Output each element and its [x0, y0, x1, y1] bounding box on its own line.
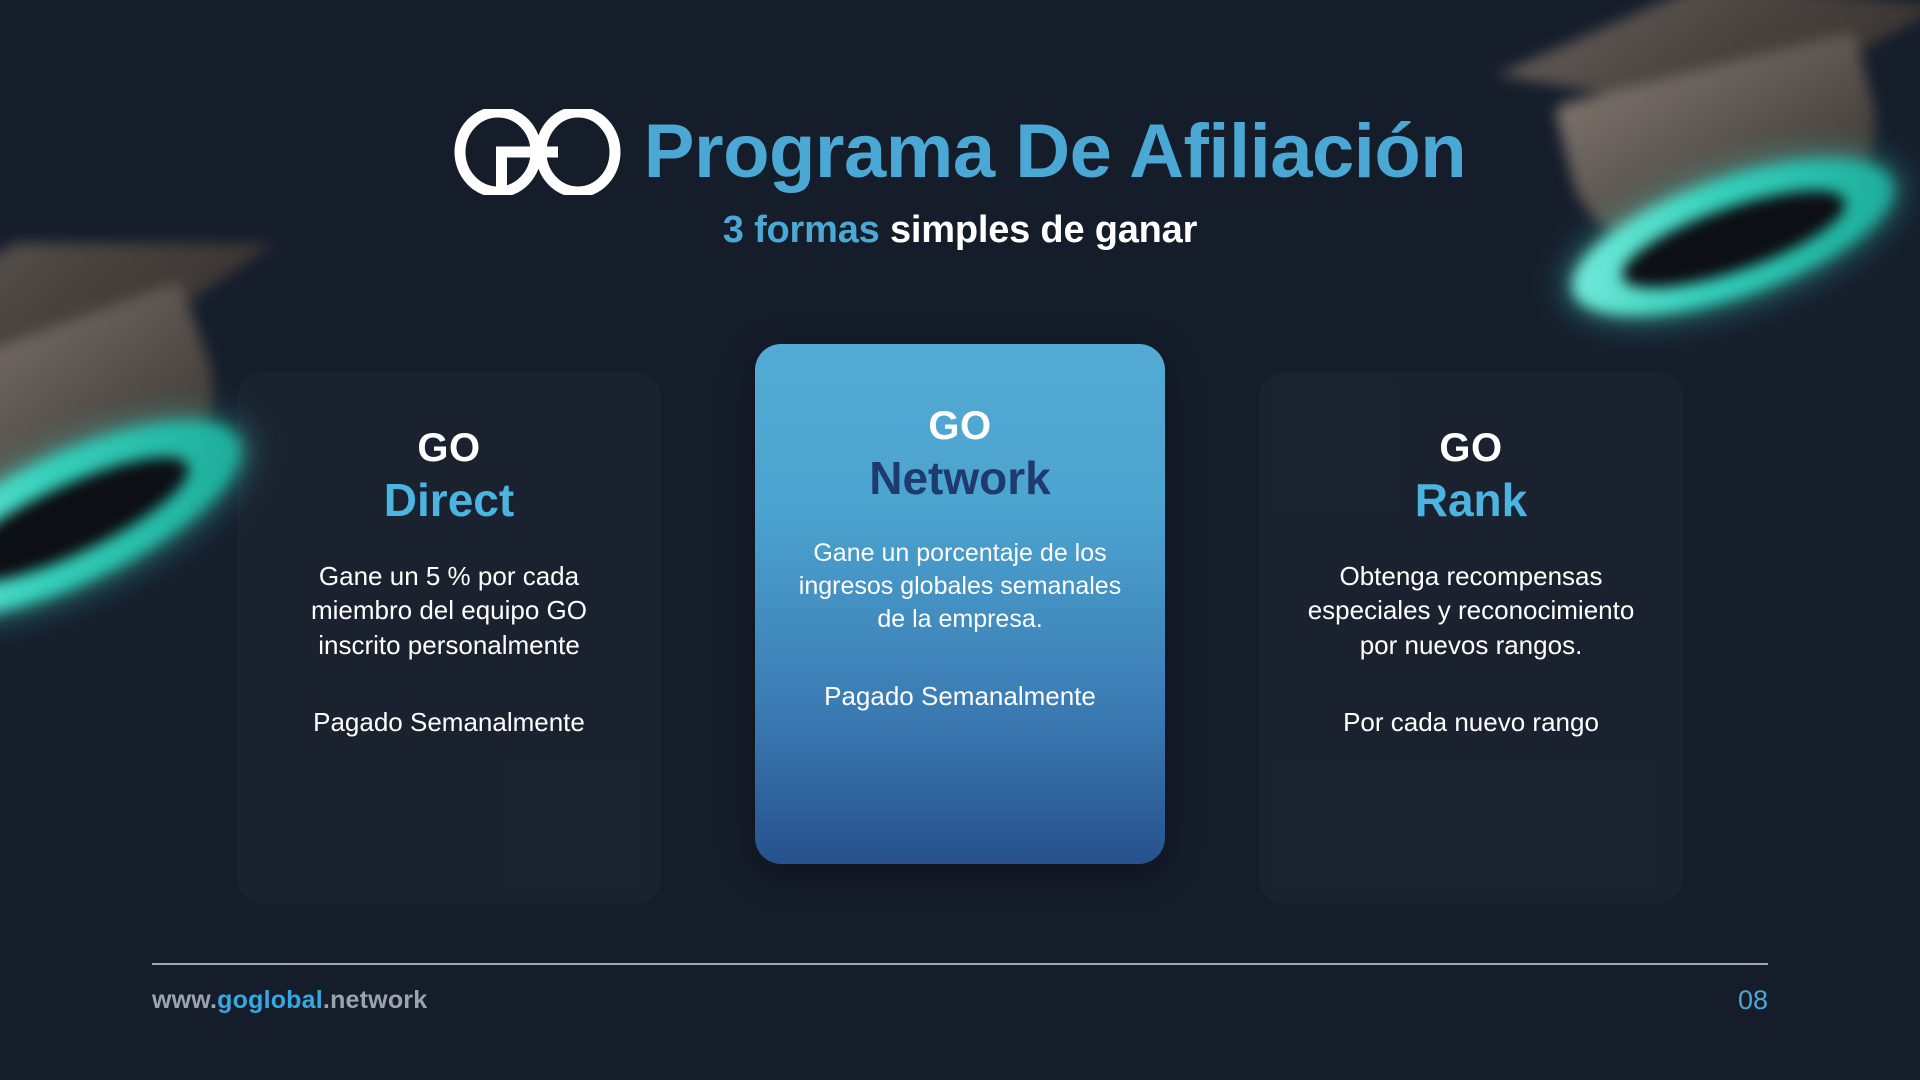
subtitle-accent: 3 formas	[723, 209, 880, 251]
card-payout-note: Pagado Semanalmente	[785, 680, 1135, 714]
slide-header: Programa De Afiliación 3 formas simples …	[0, 108, 1920, 252]
go-logo-icon	[454, 109, 622, 195]
card-payout-note: Por cada nuevo rango	[1293, 706, 1649, 740]
plan-card-direct[interactable]: GO Direct Gane un 5 % por cada miembro d…	[237, 372, 661, 904]
plan-card-list: GO Direct Gane un 5 % por cada miembro d…	[0, 372, 1920, 904]
card-brand-label: GO	[785, 406, 1135, 446]
url-highlight: goglobal	[217, 986, 323, 1014]
card-description: Gane un 5 % por cada miembro del equipo …	[271, 559, 627, 662]
subtitle-plain: simples de ganar	[880, 209, 1198, 251]
page-title: Programa De Afiliación	[644, 108, 1466, 195]
plan-card-network[interactable]: GO Network Gane un porcentaje de los ing…	[755, 344, 1165, 864]
slide-footer: www.goglobal.network 08	[152, 963, 1768, 1016]
card-payout-note: Pagado Semanalmente	[271, 706, 627, 740]
url-prefix: www.	[152, 986, 217, 1014]
title-row: Programa De Afiliación	[0, 108, 1920, 195]
card-title-direct: Direct	[271, 474, 627, 527]
card-description: Obtenga recompensas especiales y reconoc…	[1293, 559, 1649, 662]
footer-divider	[152, 963, 1768, 965]
plan-card-rank[interactable]: GO Rank Obtenga recompensas especiales y…	[1259, 372, 1683, 904]
page-subtitle: 3 formas simples de ganar	[0, 209, 1920, 252]
footer-row: www.goglobal.network 08	[152, 985, 1768, 1016]
footer-website-link[interactable]: www.goglobal.network	[152, 986, 427, 1015]
card-title-network: Network	[785, 452, 1135, 505]
url-suffix: .network	[323, 986, 427, 1014]
page-number: 08	[1738, 985, 1768, 1016]
card-title-rank: Rank	[1293, 474, 1649, 527]
card-brand-label: GO	[271, 428, 627, 468]
card-brand-label: GO	[1293, 428, 1649, 468]
card-description: Gane un porcentaje de los ingresos globa…	[785, 537, 1135, 636]
